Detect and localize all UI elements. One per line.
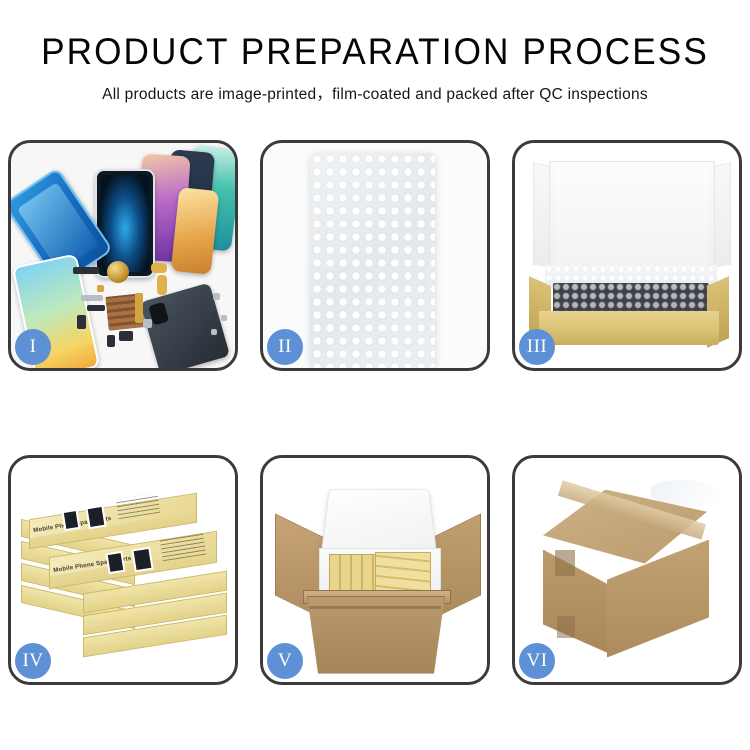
step-badge-2: II [267,329,303,365]
step-badge-1: I [15,329,51,365]
page-subtitle: All products are image-printed，film-coat… [0,84,750,106]
page-header: PRODUCT PREPARATION PROCESS All products… [0,0,750,106]
process-step-panel-6[interactable]: VI [512,455,742,686]
process-step-panel-1[interactable]: I [8,140,238,371]
step-badge-5: V [267,643,303,679]
process-step-panel-5[interactable]: V [260,455,490,686]
page-title: PRODUCT PREPARATION PROCESS [19,30,732,74]
step-badge-6: VI [519,643,555,679]
process-step-panel-4[interactable]: Mobile Phone Spare Parts Mobile Phone Sp… [8,455,238,686]
process-step-panel-3[interactable]: III [512,140,742,371]
process-step-panel-2[interactable]: II [260,140,490,371]
process-step-grid: I II III [8,140,742,685]
step-badge-3: III [519,329,555,365]
step-badge-4: IV [15,643,51,679]
